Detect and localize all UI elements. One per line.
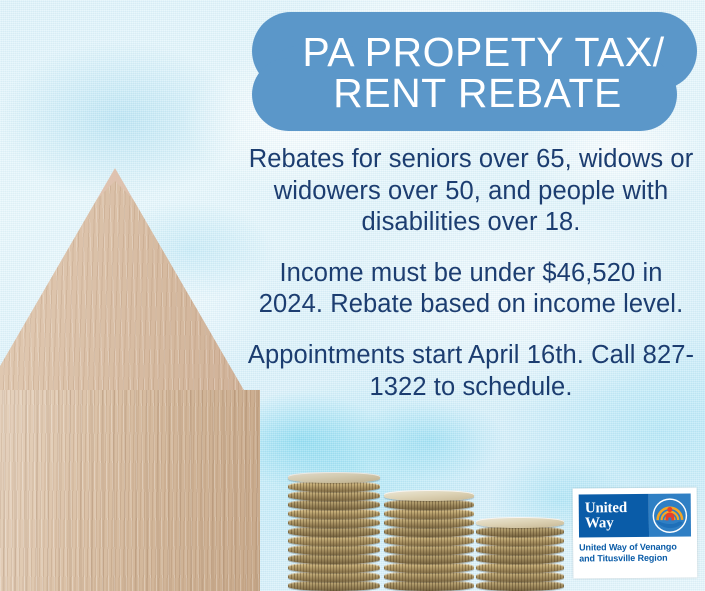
united-way-wordmark-line2: Way <box>585 515 649 531</box>
title-banner: PA PROPETY TAX/ RENT REBATE <box>252 12 697 131</box>
united-way-wordmark: United Way <box>579 494 649 538</box>
coin-stacks-illustration <box>280 461 580 591</box>
banner-title-line2: RENT REBATE <box>327 73 622 113</box>
united-way-symbol-panel <box>649 494 691 537</box>
body-copy: Rebates for seniors over 65, widows or w… <box>245 144 697 403</box>
coin-stack-short <box>476 517 564 591</box>
house-roof <box>0 168 260 418</box>
united-way-affiliate-name: United Way of Venango and Titusville Reg… <box>579 542 691 565</box>
coin <box>384 490 474 501</box>
poster-flyer: PA PROPETY TAX/ RENT REBATE Rebates for … <box>0 0 705 591</box>
eligibility-paragraph: Rebates for seniors over 65, widows or w… <box>245 144 697 239</box>
coin <box>476 517 564 528</box>
appointments-paragraph: Appointments start April 16th. Call 827-… <box>245 340 697 403</box>
banner-title: PA PROPETY TAX/ RENT REBATE <box>252 12 697 131</box>
banner-title-line1: PA PROPETY TAX/ <box>284 32 664 72</box>
united-way-wordmark-line1: United <box>585 500 649 516</box>
united-way-logo-card: United Way United Way of Venango and Tit… <box>573 487 698 578</box>
house-roof-face <box>0 181 260 418</box>
wooden-house-illustration <box>0 168 260 591</box>
united-way-rainbow-hand-person-icon <box>652 497 688 533</box>
house-wall-shading <box>0 390 260 591</box>
coin-stack-tall <box>288 466 380 591</box>
coin <box>288 472 380 483</box>
united-way-logo-mark: United Way <box>579 494 691 538</box>
coin-stack-medium <box>384 491 474 591</box>
income-paragraph: Income must be under $46,520 in 2024. Re… <box>245 258 697 321</box>
